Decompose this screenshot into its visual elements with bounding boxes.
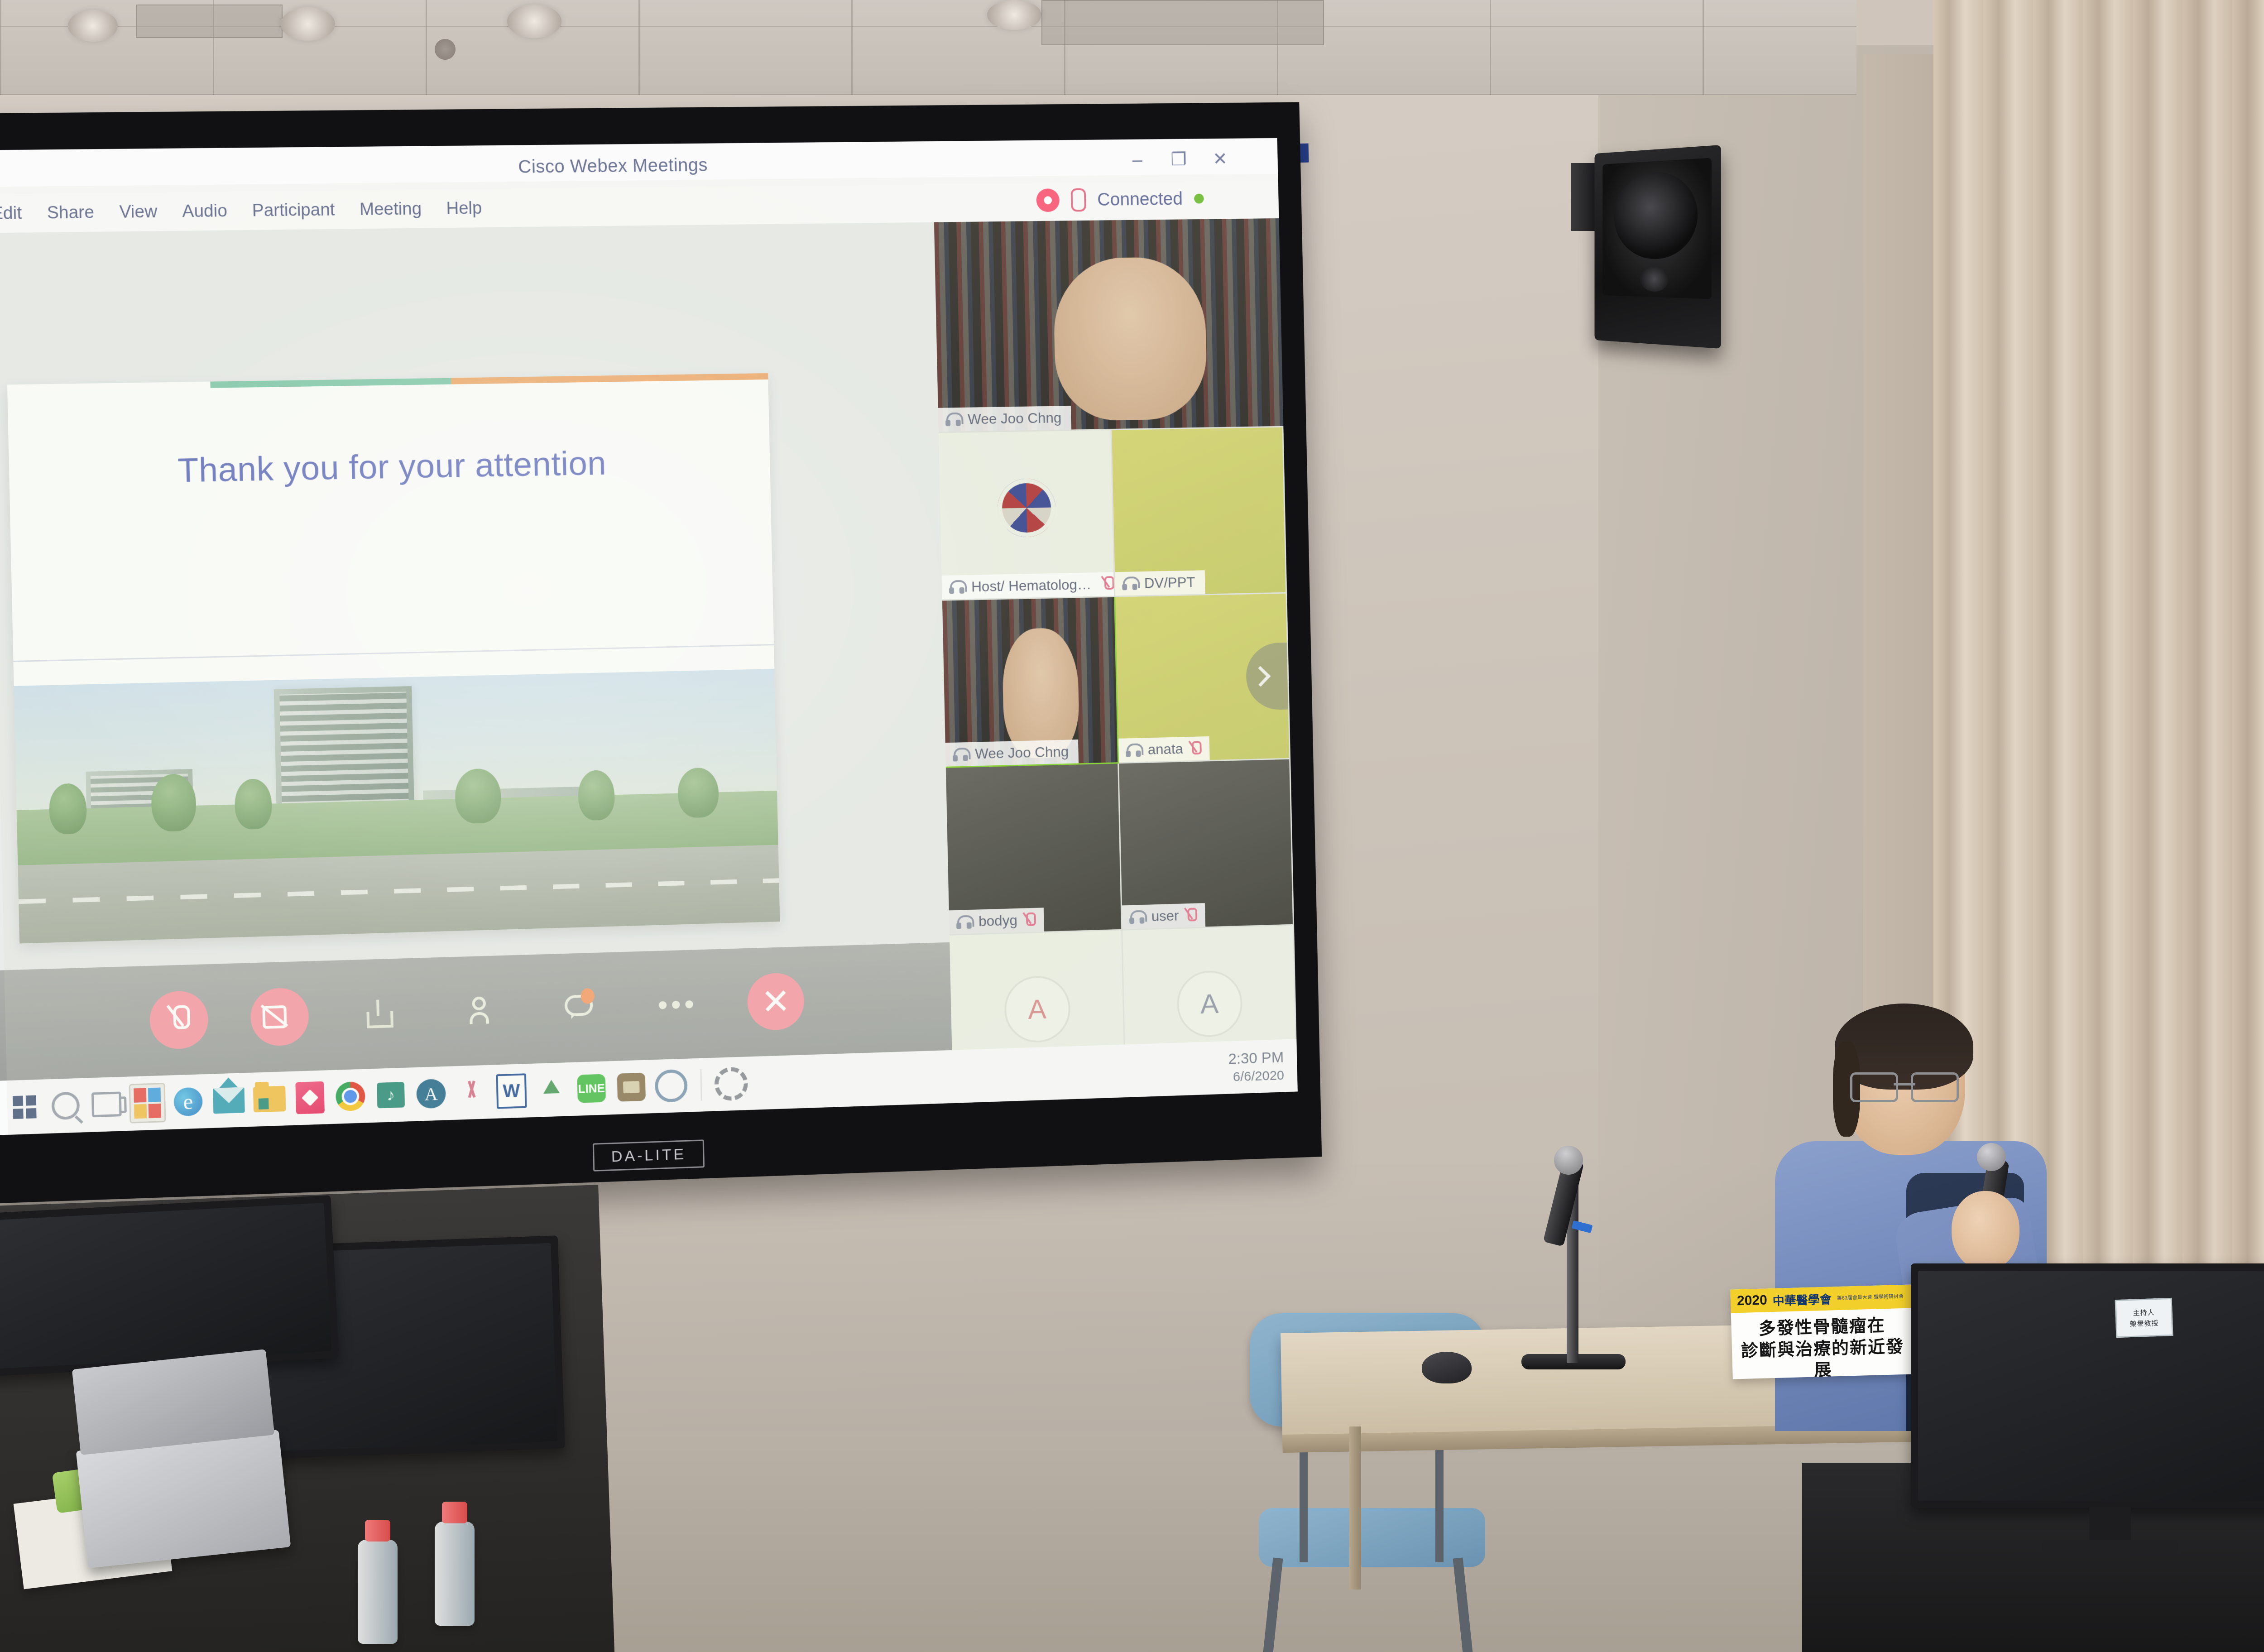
participant-label: DV/PPT [1115, 570, 1205, 595]
participants-icon [466, 996, 493, 1025]
participant-name: Wee Joo Chng [968, 409, 1062, 427]
participant-label: Host/ Hematology (Host) [942, 572, 1116, 600]
participant-face [1002, 628, 1080, 759]
scissors-icon [457, 1078, 485, 1106]
monitor-base [2042, 1540, 2178, 1553]
participant-face [1053, 257, 1208, 422]
participant-name: anata [1148, 741, 1184, 758]
participant-tile-1[interactable]: Wee Joo Chng [934, 218, 1284, 433]
pink-app-button[interactable] [292, 1079, 328, 1116]
circle-app-button[interactable] [653, 1068, 689, 1104]
nameplate-organization: 中華醫學會 [1772, 1290, 1832, 1309]
headset-icon [1122, 576, 1137, 590]
chat-notification-badge [580, 988, 595, 1004]
ellipsis-icon: ••• [657, 999, 697, 1010]
settings-button[interactable] [713, 1066, 749, 1102]
presentation-slide: Thank you for your attention www.ncis.co… [7, 373, 780, 943]
more-options-button[interactable]: ••• [648, 975, 706, 1034]
mute-audio-button[interactable] [149, 990, 209, 1050]
monitor-right-1 [1911, 1263, 2264, 1508]
camera-muted-icon [262, 1005, 297, 1029]
acrobat-icon: A [416, 1079, 446, 1109]
menu-item-meeting[interactable]: Meeting [360, 199, 422, 220]
line-button[interactable]: LINE [573, 1070, 609, 1107]
chat-button[interactable] [550, 978, 608, 1037]
headset-icon [1126, 743, 1141, 757]
menu-item-edit[interactable]: Edit [0, 203, 22, 223]
ceiling-light [68, 10, 118, 42]
headset-icon [1129, 910, 1145, 924]
bottle-cap [365, 1520, 390, 1542]
participant-name: user [1151, 908, 1179, 925]
participant-name: Host/ Hematology (Host) [971, 576, 1096, 595]
water-bottle-2 [435, 1522, 475, 1626]
share-screen-icon [366, 999, 393, 1028]
nameplate-body: 多發性骨髓瘤在 診斷與治療的新近發展 [1731, 1308, 1914, 1379]
connection-status-row: Connected [1036, 187, 1204, 212]
headset-icon [949, 580, 964, 594]
monitor-screen [0, 1203, 331, 1369]
water-bottle-1 [358, 1540, 398, 1644]
presenter-hand [1952, 1191, 2019, 1270]
participant-label: Wee Joo Chng [938, 406, 1072, 432]
search-icon [51, 1091, 80, 1120]
ceiling-light [281, 7, 335, 41]
close-button[interactable]: ✕ [1211, 150, 1230, 168]
acrobat-button[interactable]: A [413, 1076, 450, 1112]
start-button[interactable] [6, 1089, 43, 1126]
gear-icon [714, 1066, 748, 1101]
record-dot-icon[interactable] [1036, 188, 1060, 212]
chat-bubble-icon [565, 994, 593, 1021]
ceiling-light [507, 5, 561, 38]
menu-item-participant[interactable]: Participant [252, 200, 335, 221]
bottle-cap [442, 1502, 467, 1523]
chrome-icon [336, 1081, 365, 1112]
windows-logo-icon [13, 1095, 37, 1119]
line-icon: LINE [577, 1074, 605, 1103]
microphone-muted-icon [1186, 908, 1196, 923]
microphone-muted-icon [1024, 912, 1034, 928]
mail-button[interactable] [211, 1082, 247, 1119]
menu-item-audio[interactable]: Audio [182, 201, 227, 221]
participant-label: Wee Joo Chng [945, 740, 1079, 767]
microphone-muted-icon [1103, 576, 1113, 591]
edge-button[interactable]: e [170, 1083, 206, 1120]
connection-indicator [1194, 194, 1204, 204]
webex-app-window: Cisco Webex Meetings – ❐ ✕ Edit Share Vi… [0, 138, 1298, 1135]
ceiling [0, 0, 1856, 95]
screen-brand-label: DA-LITE [593, 1139, 705, 1171]
connection-label: Connected [1097, 189, 1183, 210]
diamond-app-icon [295, 1081, 325, 1114]
ceiling-light [987, 0, 1041, 30]
ceiling-tile [136, 5, 283, 38]
nameplate-year: 2020 [1737, 1292, 1768, 1309]
participant-label: anata [1118, 736, 1210, 762]
word-button[interactable]: W [493, 1073, 529, 1109]
participant-name: bodyg [979, 912, 1017, 930]
window-controls[interactable]: – ❐ ✕ [1128, 150, 1230, 169]
restore-button[interactable]: ❐ [1169, 150, 1188, 168]
stop-video-button[interactable] [250, 987, 309, 1047]
microphone-muted-icon [1190, 741, 1200, 756]
placard-line-2: 榮譽教授 [2130, 1318, 2159, 1328]
microsoft-store-button[interactable] [129, 1085, 166, 1122]
participant-name: DV/PPT [1144, 574, 1195, 591]
monitor-stand [2089, 1507, 2131, 1541]
folder-icon [253, 1086, 286, 1113]
microphone-icon [1070, 188, 1086, 212]
nameplate-title-line-2: 診斷與治療的新近發展 [1736, 1336, 1909, 1379]
end-meeting-button[interactable]: ✕ [747, 972, 805, 1031]
participant-label: user [1122, 903, 1205, 929]
headset-icon [945, 413, 961, 426]
chair-seat [1259, 1508, 1485, 1567]
participant-label: bodyg [949, 908, 1044, 935]
projection-screen: Cisco Webex Meetings – ❐ ✕ Edit Share Vi… [0, 102, 1322, 1204]
close-x-icon: ✕ [761, 984, 791, 1020]
minimize-button[interactable]: – [1128, 151, 1147, 169]
presenter-glasses [1850, 1072, 1959, 1100]
participant-name: Wee Joo Chng [975, 744, 1069, 763]
mail-icon [213, 1087, 245, 1114]
menu-item-share[interactable]: Share [47, 202, 94, 223]
handheld-microphone-head [1977, 1143, 2006, 1171]
ceiling-tile [1041, 0, 1324, 45]
app-title: Cisco Webex Meetings [518, 155, 708, 178]
photo-app-button[interactable] [613, 1069, 649, 1105]
menu-item-help[interactable]: Help [446, 198, 482, 218]
microsoft-store-icon [129, 1083, 166, 1124]
snipping-tool-button[interactable] [453, 1074, 489, 1111]
slide-title: Thank you for your attention [9, 441, 770, 493]
media-note-icon: ♪ [377, 1082, 405, 1108]
participant-tile-7[interactable]: user [1119, 759, 1294, 931]
slide-accent-bar [7, 373, 768, 391]
participants-button[interactable] [450, 981, 509, 1040]
computer-mouse [1422, 1352, 1472, 1383]
conference-room-scene: DA-LITE Cisco Webex Meetings – ❐ ✕ Edit … [0, 0, 2264, 1652]
meeting-stage: Thank you for your attention www.ncis.co… [0, 218, 1298, 1135]
participant-tile-6[interactable]: bodyg [946, 764, 1122, 936]
headset-icon [953, 748, 968, 762]
clock-time: 2:30 PM [1228, 1048, 1284, 1069]
projected-image: Cisco Webex Meetings – ❐ ✕ Edit Share Vi… [0, 138, 1298, 1135]
participant-tile-2[interactable]: Host/ Hematology (Host) [939, 430, 1115, 600]
video-feed [1119, 759, 1293, 929]
task-view-button[interactable] [88, 1086, 125, 1123]
upload-app-button[interactable] [533, 1071, 570, 1108]
participant-row-2: Host/ Hematology (Host) DV/PPT [939, 427, 1287, 601]
monitor-screen [1918, 1271, 2264, 1501]
nameplate-subtitle: 第63屆會員大會 暨學術研討會 [1837, 1294, 1904, 1301]
microphone-muted-icon [169, 1005, 188, 1035]
ring-icon [655, 1069, 688, 1103]
taskbar-divider [700, 1069, 702, 1101]
task-view-icon [91, 1091, 122, 1117]
media-player-button[interactable]: ♪ [373, 1077, 409, 1114]
sprinkler-head [435, 39, 456, 60]
participant-tile-5[interactable]: anata [1115, 593, 1290, 764]
taskbar-clock[interactable]: 2:30 PM 6/6/2020 [1228, 1048, 1284, 1085]
shared-content-area: Thank you for your attention www.ncis.co… [0, 222, 953, 1135]
headset-icon [956, 915, 972, 929]
participant-video-column: Wee Joo Chng Host/ Hematology (Host) [934, 218, 1298, 1103]
participant-tile-4[interactable]: Wee Joo Chng [942, 597, 1119, 768]
participant-tile-3[interactable]: DV/PPT [1112, 427, 1287, 597]
chrome-button[interactable] [332, 1078, 369, 1115]
word-icon: W [496, 1073, 527, 1109]
desk-placard: 主持人 榮譽教授 [2115, 1298, 2173, 1338]
monitor-left-2 [0, 1195, 339, 1377]
campus-photo [14, 669, 780, 944]
file-explorer-button[interactable] [251, 1081, 288, 1117]
participant-row-4: bodyg user [946, 759, 1294, 936]
menu-item-view[interactable]: View [119, 202, 158, 222]
edge-icon: e [173, 1087, 203, 1117]
slide-divider [13, 644, 774, 662]
clock-date: 6/6/2020 [1228, 1067, 1285, 1085]
share-content-button[interactable] [350, 984, 409, 1043]
participant-row-3: Wee Joo Chng anata [942, 593, 1290, 768]
laptop [76, 1430, 291, 1568]
picture-icon [617, 1073, 646, 1102]
green-arrow-up-icon [537, 1076, 566, 1104]
placard-line-1: 主持人 [2133, 1307, 2155, 1318]
search-button[interactable] [47, 1087, 84, 1124]
table-nameplate: 2020 中華醫學會 第63屆會員大會 暨學術研討會 多發性骨髓瘤在 診斷與治療… [1730, 1284, 1914, 1379]
wall-speaker [1595, 145, 1721, 349]
